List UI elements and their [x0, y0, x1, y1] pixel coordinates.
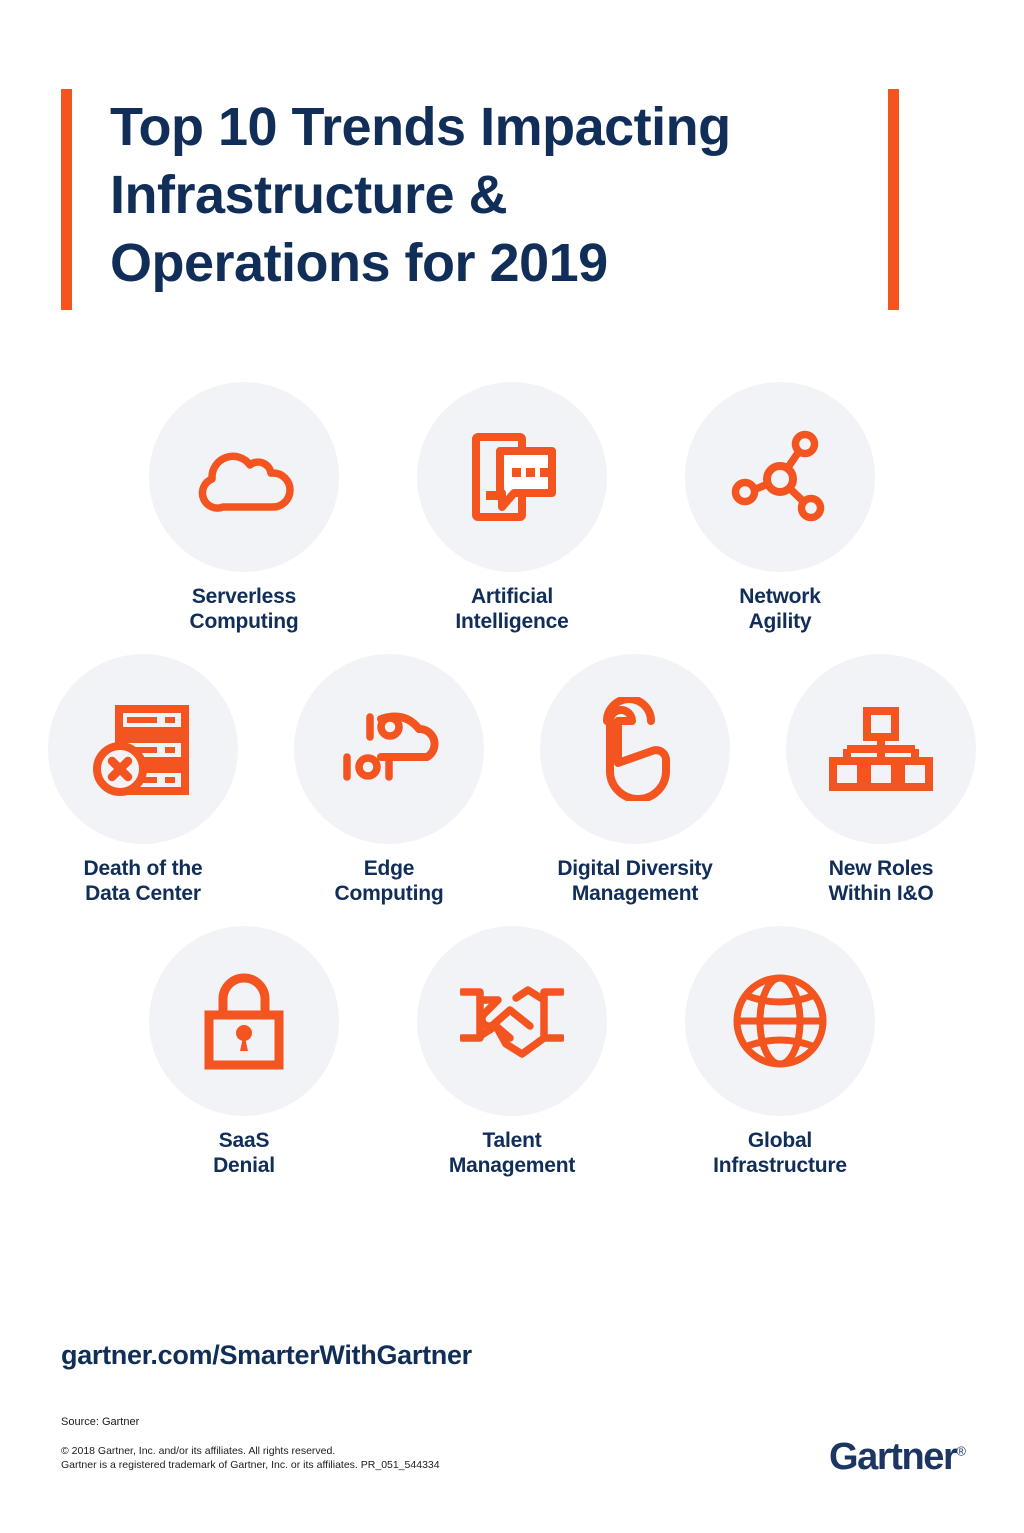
- trend-icon-disc: [48, 654, 238, 844]
- trend-row-3: SaaS Denial: [0, 926, 1024, 1178]
- trend-serverless-computing[interactable]: Serverless Computing: [129, 382, 359, 634]
- caption-line-2: Intelligence: [455, 609, 568, 634]
- network-nodes-icon: [729, 429, 831, 525]
- trend-digital-diversity-management[interactable]: Digital Diversity Management: [520, 654, 750, 906]
- caption-line-1: Network: [739, 585, 820, 608]
- trend-icon-disc: [417, 926, 607, 1116]
- trend-caption: Artificial Intelligence: [455, 584, 568, 634]
- caption-line-2: Computing: [334, 881, 443, 906]
- trend-global-infrastructure[interactable]: Global Infrastructure: [665, 926, 895, 1178]
- gartner-logo: Gartner®: [829, 1436, 966, 1479]
- page-title: Top 10 Trends Impacting Infrastructure &…: [72, 89, 888, 310]
- trend-icon-disc: [685, 926, 875, 1116]
- trend-icon-disc: [149, 926, 339, 1116]
- footer: Source: Gartner © 2018 Gartner, Inc. and…: [61, 1415, 681, 1472]
- caption-line-1: Death of the: [84, 857, 203, 880]
- title-line-2: Infrastructure &: [110, 161, 888, 229]
- trend-grid: Serverless Computing: [0, 382, 1024, 1178]
- legal-notice: © 2018 Gartner, Inc. and/or its affiliat…: [61, 1444, 681, 1472]
- handshake-icon: [460, 980, 564, 1062]
- binary-cloud-icon: [337, 707, 441, 791]
- registered-trademark-icon: ®: [956, 1443, 966, 1458]
- server-disabled-icon: [93, 699, 193, 799]
- caption-line-1: SaaS: [219, 1129, 270, 1152]
- touch-hand-icon: [590, 697, 680, 801]
- trend-icon-disc: [685, 382, 875, 572]
- caption-line-1: Talent: [482, 1129, 541, 1152]
- title-rule-left: [61, 89, 72, 310]
- caption-line-2: Management: [449, 1153, 575, 1178]
- trend-row-2: Death of the Data Center: [0, 654, 1024, 906]
- caption-line-1: Serverless: [192, 585, 296, 608]
- caption-line-1: Edge: [364, 857, 415, 880]
- trend-icon-disc: [294, 654, 484, 844]
- caption-line-2: Management: [557, 881, 712, 906]
- trend-caption: SaaS Denial: [213, 1128, 275, 1178]
- trend-edge-computing[interactable]: Edge Computing: [274, 654, 504, 906]
- caption-line-2: Agility: [739, 609, 820, 634]
- trend-row-1: Serverless Computing: [0, 382, 1024, 634]
- source-note: Source: Gartner: [61, 1415, 681, 1430]
- trend-caption: Serverless Computing: [189, 584, 298, 634]
- caption-line-2: Computing: [189, 609, 298, 634]
- caption-line-1: Digital Diversity: [557, 857, 712, 880]
- title-block: Top 10 Trends Impacting Infrastructure &…: [61, 89, 899, 310]
- trend-caption: Death of the Data Center: [84, 856, 203, 906]
- trend-caption: Global Infrastructure: [713, 1128, 847, 1178]
- org-chart-icon: [829, 707, 933, 791]
- legal-line-2: Gartner is a registered trademark of Gar…: [61, 1458, 681, 1472]
- padlock-icon: [201, 971, 287, 1071]
- trend-death-of-the-data-center[interactable]: Death of the Data Center: [28, 654, 258, 906]
- trend-caption: Network Agility: [739, 584, 820, 634]
- globe-icon: [732, 973, 828, 1069]
- infographic-page: Top 10 Trends Impacting Infrastructure &…: [0, 0, 1024, 1533]
- title-rule-right: [888, 89, 899, 310]
- trend-caption: Digital Diversity Management: [557, 856, 712, 906]
- website-url[interactable]: gartner.com/SmarterWithGartner: [61, 1340, 472, 1371]
- trend-caption: New Roles Within I&O: [828, 856, 933, 906]
- legal-line-1: © 2018 Gartner, Inc. and/or its affiliat…: [61, 1444, 681, 1458]
- trend-talent-management[interactable]: Talent Management: [397, 926, 627, 1178]
- caption-line-2: Denial: [213, 1153, 275, 1178]
- caption-line-1: Global: [748, 1129, 812, 1152]
- title-line-1: Top 10 Trends Impacting: [110, 93, 888, 161]
- trend-icon-disc: [417, 382, 607, 572]
- trend-caption: Talent Management: [449, 1128, 575, 1178]
- caption-line-2: Data Center: [84, 881, 203, 906]
- caption-line-2: Infrastructure: [713, 1153, 847, 1178]
- caption-line-2: Within I&O: [828, 881, 933, 906]
- trend-icon-disc: [786, 654, 976, 844]
- trend-icon-disc: [149, 382, 339, 572]
- caption-line-1: Artificial: [471, 585, 553, 608]
- trend-saas-denial[interactable]: SaaS Denial: [129, 926, 359, 1178]
- trend-icon-disc: [540, 654, 730, 844]
- trend-new-roles-within-io[interactable]: New Roles Within I&O: [766, 654, 996, 906]
- logo-wordmark: Gartner: [829, 1436, 956, 1478]
- trend-artificial-intelligence[interactable]: Artificial Intelligence: [397, 382, 627, 634]
- trend-caption: Edge Computing: [334, 856, 443, 906]
- title-line-3: Operations for 2019: [110, 229, 888, 297]
- cloud-icon: [190, 437, 298, 517]
- chatbot-device-icon: [462, 427, 562, 527]
- caption-line-1: New Roles: [829, 857, 933, 880]
- trend-network-agility[interactable]: Network Agility: [665, 382, 895, 634]
